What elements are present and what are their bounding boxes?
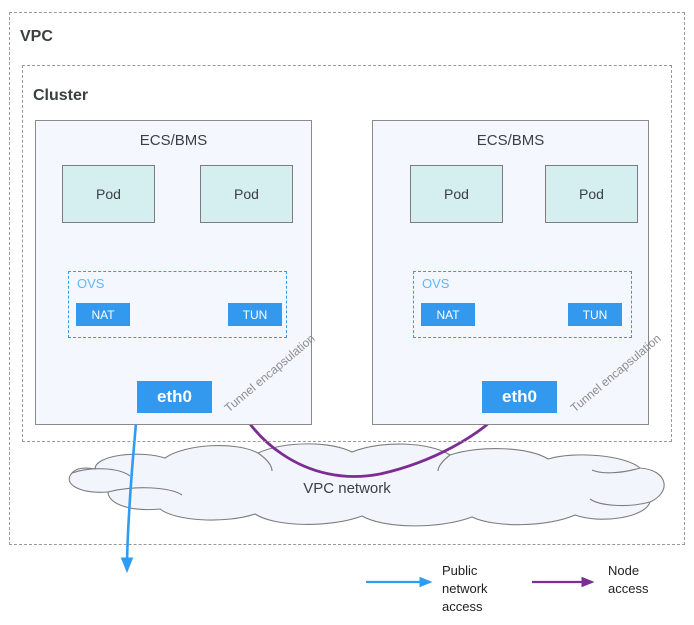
eth0-nic-right: eth0 [482, 381, 557, 413]
network-architecture-diagram: VPC Cluster ECS/BMS Pod Pod OVS NAT TUN … [0, 0, 694, 625]
tun-label: TUN [228, 308, 282, 322]
pod-label: Pod [546, 186, 637, 202]
pod-label: Pod [201, 186, 292, 202]
ovs-label: OVS [422, 276, 449, 291]
nat-chip-left: NAT [76, 303, 130, 326]
pod-left-2: Pod [200, 165, 293, 223]
pod-right-2: Pod [545, 165, 638, 223]
ovs-label: OVS [77, 276, 104, 291]
eth0-label: eth0 [482, 387, 557, 407]
tun-chip-left: TUN [228, 303, 282, 326]
pod-label: Pod [63, 186, 154, 202]
pod-left-1: Pod [62, 165, 155, 223]
node-title-left: ECS/BMS [36, 132, 311, 149]
vpc-network-label: VPC network [0, 480, 694, 497]
tun-label: TUN [568, 308, 622, 322]
legend-label: Public network access [442, 562, 512, 616]
legend-label: Node access [608, 562, 678, 598]
cluster-label: Cluster [33, 87, 88, 105]
nat-label: NAT [76, 308, 130, 322]
tun-chip-right: TUN [568, 303, 622, 326]
legend: Public network access Node access [358, 568, 688, 622]
vpc-label: VPC [20, 28, 53, 46]
eth0-nic-left: eth0 [137, 381, 212, 413]
nat-label: NAT [421, 308, 475, 322]
pod-label: Pod [411, 186, 502, 202]
eth0-label: eth0 [137, 387, 212, 407]
nat-chip-right: NAT [421, 303, 475, 326]
node-title-right: ECS/BMS [373, 132, 648, 149]
pod-right-1: Pod [410, 165, 503, 223]
